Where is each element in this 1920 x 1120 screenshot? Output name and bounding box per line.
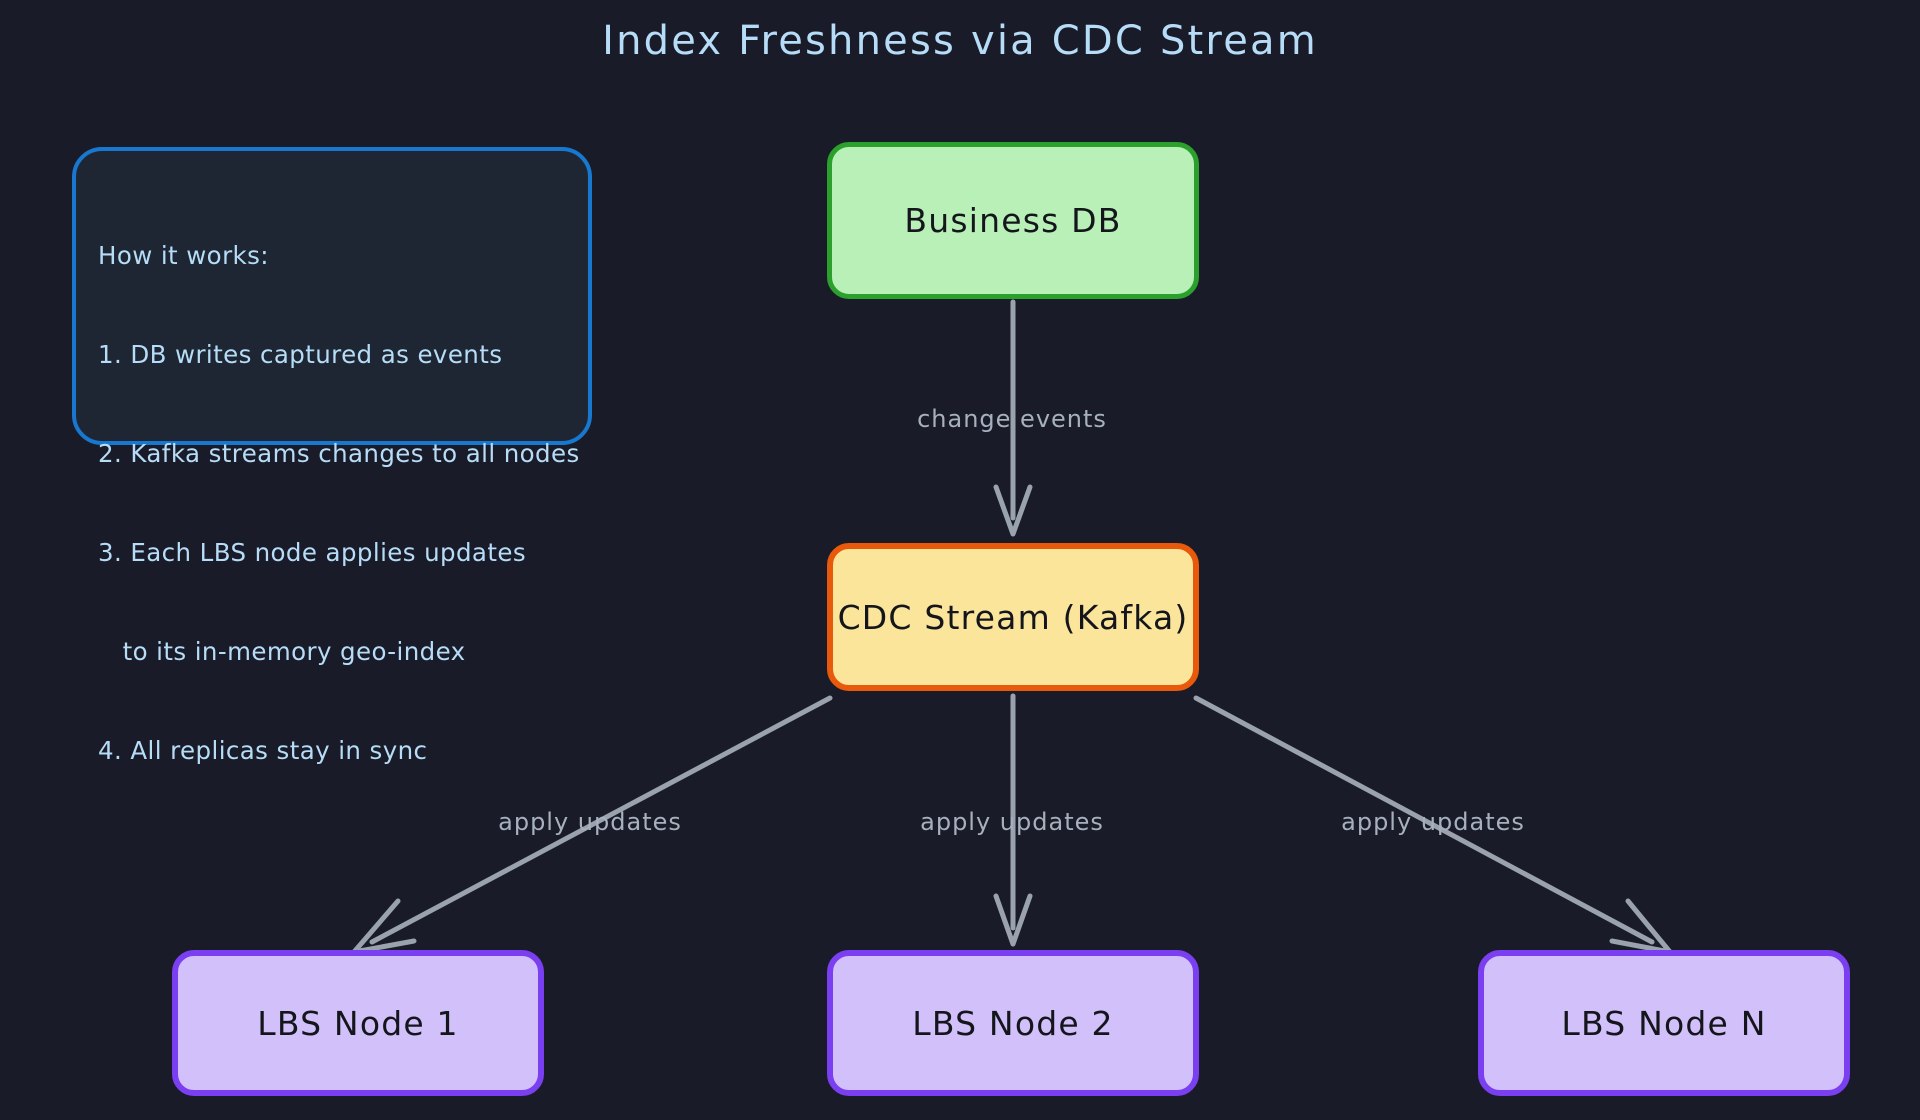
node-business-db[interactable]: Business DB bbox=[827, 142, 1199, 299]
legend-step-3-continued: to its in-memory geo-index bbox=[98, 635, 588, 668]
node-lbs-node-2[interactable]: LBS Node 2 bbox=[827, 950, 1199, 1096]
node-lbs-node-n[interactable]: LBS Node N bbox=[1478, 950, 1850, 1096]
legend-content: How it works: 1. DB writes captured as e… bbox=[76, 151, 588, 833]
node-business-db-label: Business DB bbox=[904, 201, 1121, 240]
legend-step-4: 4. All replicas stay in sync bbox=[98, 734, 588, 767]
legend-heading: How it works: bbox=[98, 239, 588, 272]
edge-label-apply-updates-1: apply updates bbox=[498, 808, 682, 836]
edge-label-change-events: change events bbox=[917, 405, 1107, 433]
node-lbs-node-n-label: LBS Node N bbox=[1561, 1004, 1766, 1043]
legend-step-2: 2. Kafka streams changes to all nodes bbox=[98, 437, 588, 470]
node-lbs-node-1-label: LBS Node 1 bbox=[257, 1004, 459, 1043]
node-cdc-stream[interactable]: CDC Stream (Kafka) bbox=[827, 543, 1199, 691]
node-cdc-stream-label: CDC Stream (Kafka) bbox=[838, 598, 1189, 637]
node-lbs-node-1[interactable]: LBS Node 1 bbox=[172, 950, 544, 1096]
edge-label-apply-updates-2: apply updates bbox=[920, 808, 1104, 836]
diagram-canvas: Index Freshness via CDC Stream How it wo… bbox=[0, 0, 1920, 1120]
node-lbs-node-2-label: LBS Node 2 bbox=[912, 1004, 1114, 1043]
legend-step-3: 3. Each LBS node applies updates bbox=[98, 536, 588, 569]
legend-box: How it works: 1. DB writes captured as e… bbox=[72, 147, 592, 445]
legend-step-1: 1. DB writes captured as events bbox=[98, 338, 588, 371]
edge-label-apply-updates-3: apply updates bbox=[1341, 808, 1525, 836]
